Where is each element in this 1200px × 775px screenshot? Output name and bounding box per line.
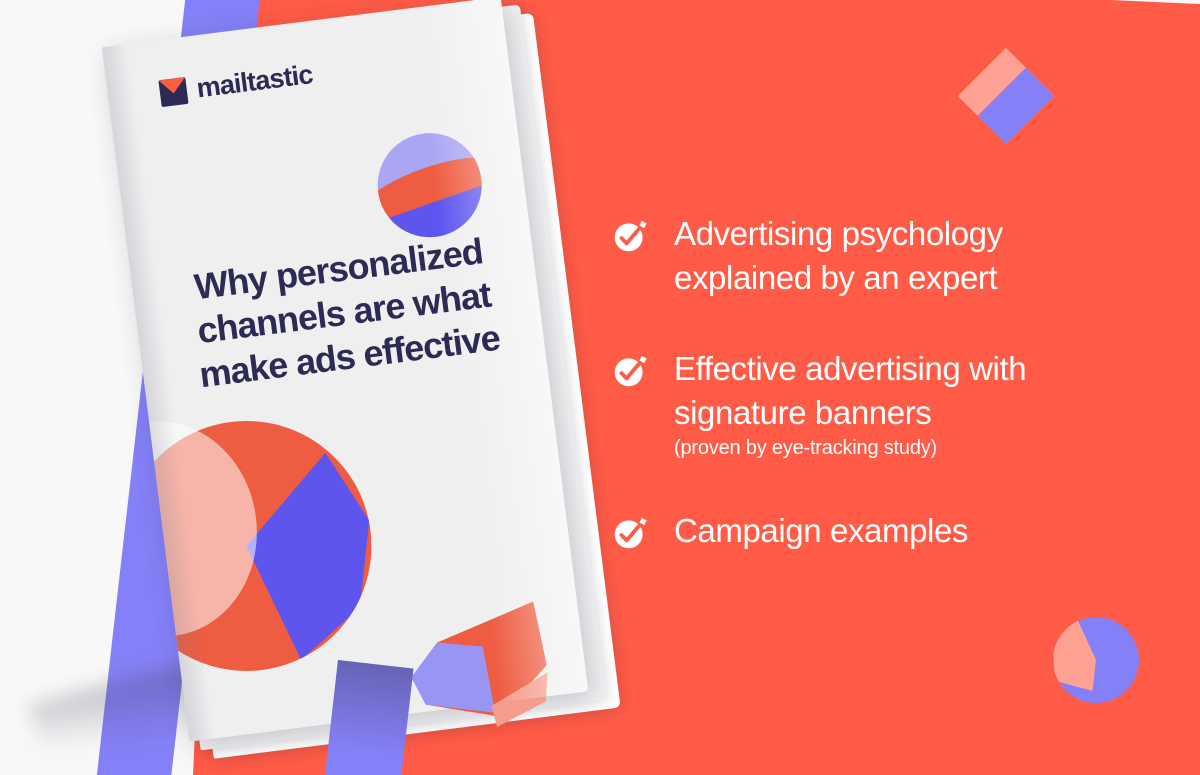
list-item-label: Advertising psychology explained by an e… — [674, 212, 1132, 299]
feature-list: Advertising psychology explained by an e… — [612, 212, 1132, 553]
ebook-title: Why personalized channels are what make … — [152, 224, 536, 401]
pie-chart-wedge — [1053, 617, 1139, 703]
circle-check-icon — [612, 515, 648, 551]
envelope-icon — [158, 77, 188, 107]
brand-name: mailtastic — [195, 61, 314, 102]
promo-graphic: mailtastic Why personalized channels are… — [0, 0, 1200, 775]
list-item-subtext: (proven by eye-tracking study) — [674, 435, 1132, 461]
list-item-label: Effective advertising with signature ban… — [674, 350, 1026, 431]
circle-check-icon — [612, 218, 648, 254]
list-item: Effective advertising with signature ban… — [612, 347, 1132, 461]
list-item: Advertising psychology explained by an e… — [612, 212, 1132, 299]
pie-wedge-accent — [404, 601, 554, 737]
envelope-flap — [158, 77, 187, 95]
pie-chart-shape — [1053, 617, 1139, 703]
list-item-body: Effective advertising with signature ban… — [674, 347, 1132, 461]
circle-check-icon — [612, 353, 648, 389]
list-item-label: Campaign examples — [674, 509, 968, 553]
three-band-circle-chart — [372, 127, 488, 243]
ebook-mockup: mailtastic Why personalized channels are… — [0, 0, 625, 775]
large-pie-chart — [107, 406, 386, 685]
brand-logo: mailtastic — [158, 61, 314, 107]
list-item: Campaign examples — [612, 509, 1132, 553]
